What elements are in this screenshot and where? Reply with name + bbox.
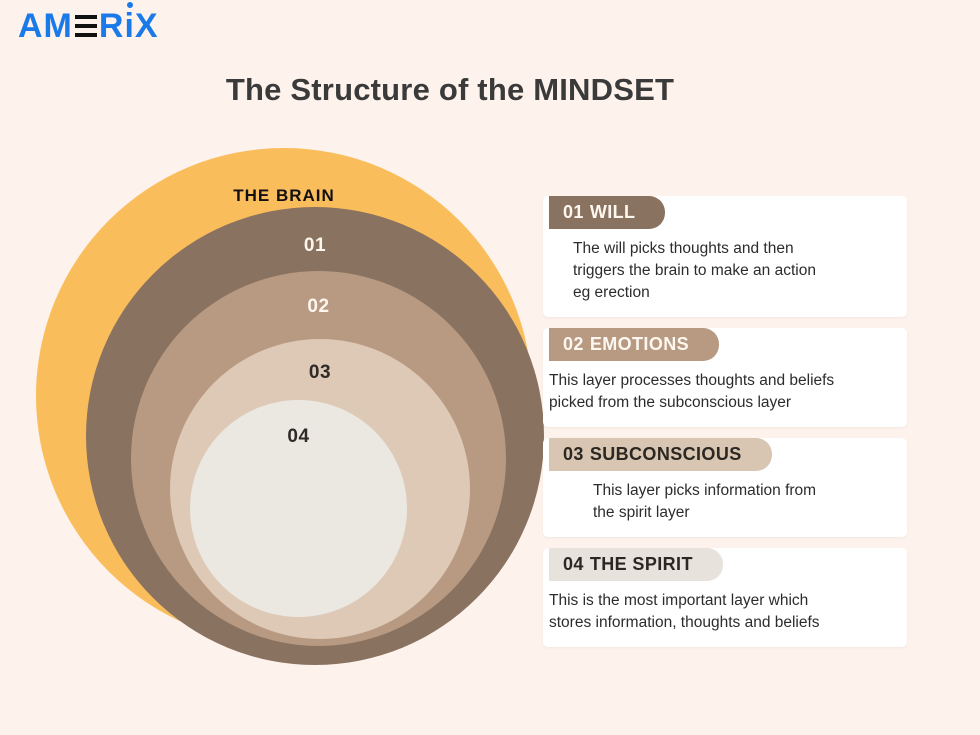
- logo-letters-am: AM: [18, 9, 73, 43]
- layer-body-line: The will picks thoughts and then: [573, 238, 899, 260]
- layer-number-04: 04: [563, 554, 584, 574]
- layer-card-header-will: 01WILL: [549, 196, 665, 229]
- brand-logo: AMRiX: [18, 6, 159, 46]
- layer-number-02: 02: [563, 334, 584, 354]
- logo-i-dot-icon: [127, 2, 133, 8]
- logo-i-stem: i: [124, 7, 134, 45]
- layer-card-header-emotions: 02EMOTIONS: [549, 328, 719, 361]
- mindset-layers-diagram: THE BRAIN 01 02 03 04: [0, 130, 540, 670]
- layer-body-the-spirit: This is the most important layer which s…: [543, 581, 907, 634]
- layer-card-will: 01WILL The will picks thoughts and then …: [543, 196, 907, 317]
- layer-body-line: This is the most important layer which: [549, 590, 899, 612]
- layer-body-line: picked from the subconscious layer: [549, 392, 899, 414]
- layer-body-line: triggers the brain to make an action: [573, 260, 899, 282]
- layer-body-will: The will picks thoughts and then trigger…: [543, 229, 907, 304]
- layer-number-03: 03: [563, 444, 584, 464]
- layer-description-list: 01WILL The will picks thoughts and then …: [543, 196, 907, 658]
- layer-card-header-the-spirit: 04THE SPIRIT: [549, 548, 723, 581]
- layer-card-header-subconscious: 03SUBCONSCIOUS: [549, 438, 772, 471]
- layer-title-the-spirit: THE SPIRIT: [590, 554, 693, 574]
- layer-body-line: This layer picks information from: [593, 480, 899, 502]
- layer-body-line: This layer processes thoughts and belief…: [549, 370, 899, 392]
- layer-body-line: eg erection: [573, 282, 899, 304]
- logo-letter-i: i: [124, 9, 134, 43]
- layer-body-line: stores information, thoughts and beliefs: [549, 612, 899, 634]
- layer-card-the-spirit: 04THE SPIRIT This is the most important …: [543, 548, 907, 647]
- layer-card-subconscious: 03SUBCONSCIOUS This layer picks informat…: [543, 438, 907, 537]
- brand-logo-text: AMRiX: [18, 9, 159, 43]
- layer-body-emotions: This layer processes thoughts and belief…: [543, 361, 907, 414]
- layer-card-emotions: 02EMOTIONS This layer processes thoughts…: [543, 328, 907, 427]
- ring-04-the-spirit: 04: [190, 400, 407, 617]
- ring-label-04: 04: [287, 426, 309, 617]
- layer-title-will: WILL: [590, 202, 636, 222]
- logo-e-icon: [75, 14, 97, 38]
- layer-number-01: 01: [563, 202, 584, 222]
- layer-body-line: the spirit layer: [593, 502, 899, 524]
- logo-letter-r: R: [99, 9, 125, 43]
- logo-letter-x: X: [135, 9, 159, 43]
- layer-title-subconscious: SUBCONSCIOUS: [590, 444, 742, 464]
- page-title: The Structure of the MINDSET: [0, 72, 900, 108]
- layer-title-emotions: EMOTIONS: [590, 334, 689, 354]
- layer-body-subconscious: This layer picks information from the sp…: [543, 471, 907, 524]
